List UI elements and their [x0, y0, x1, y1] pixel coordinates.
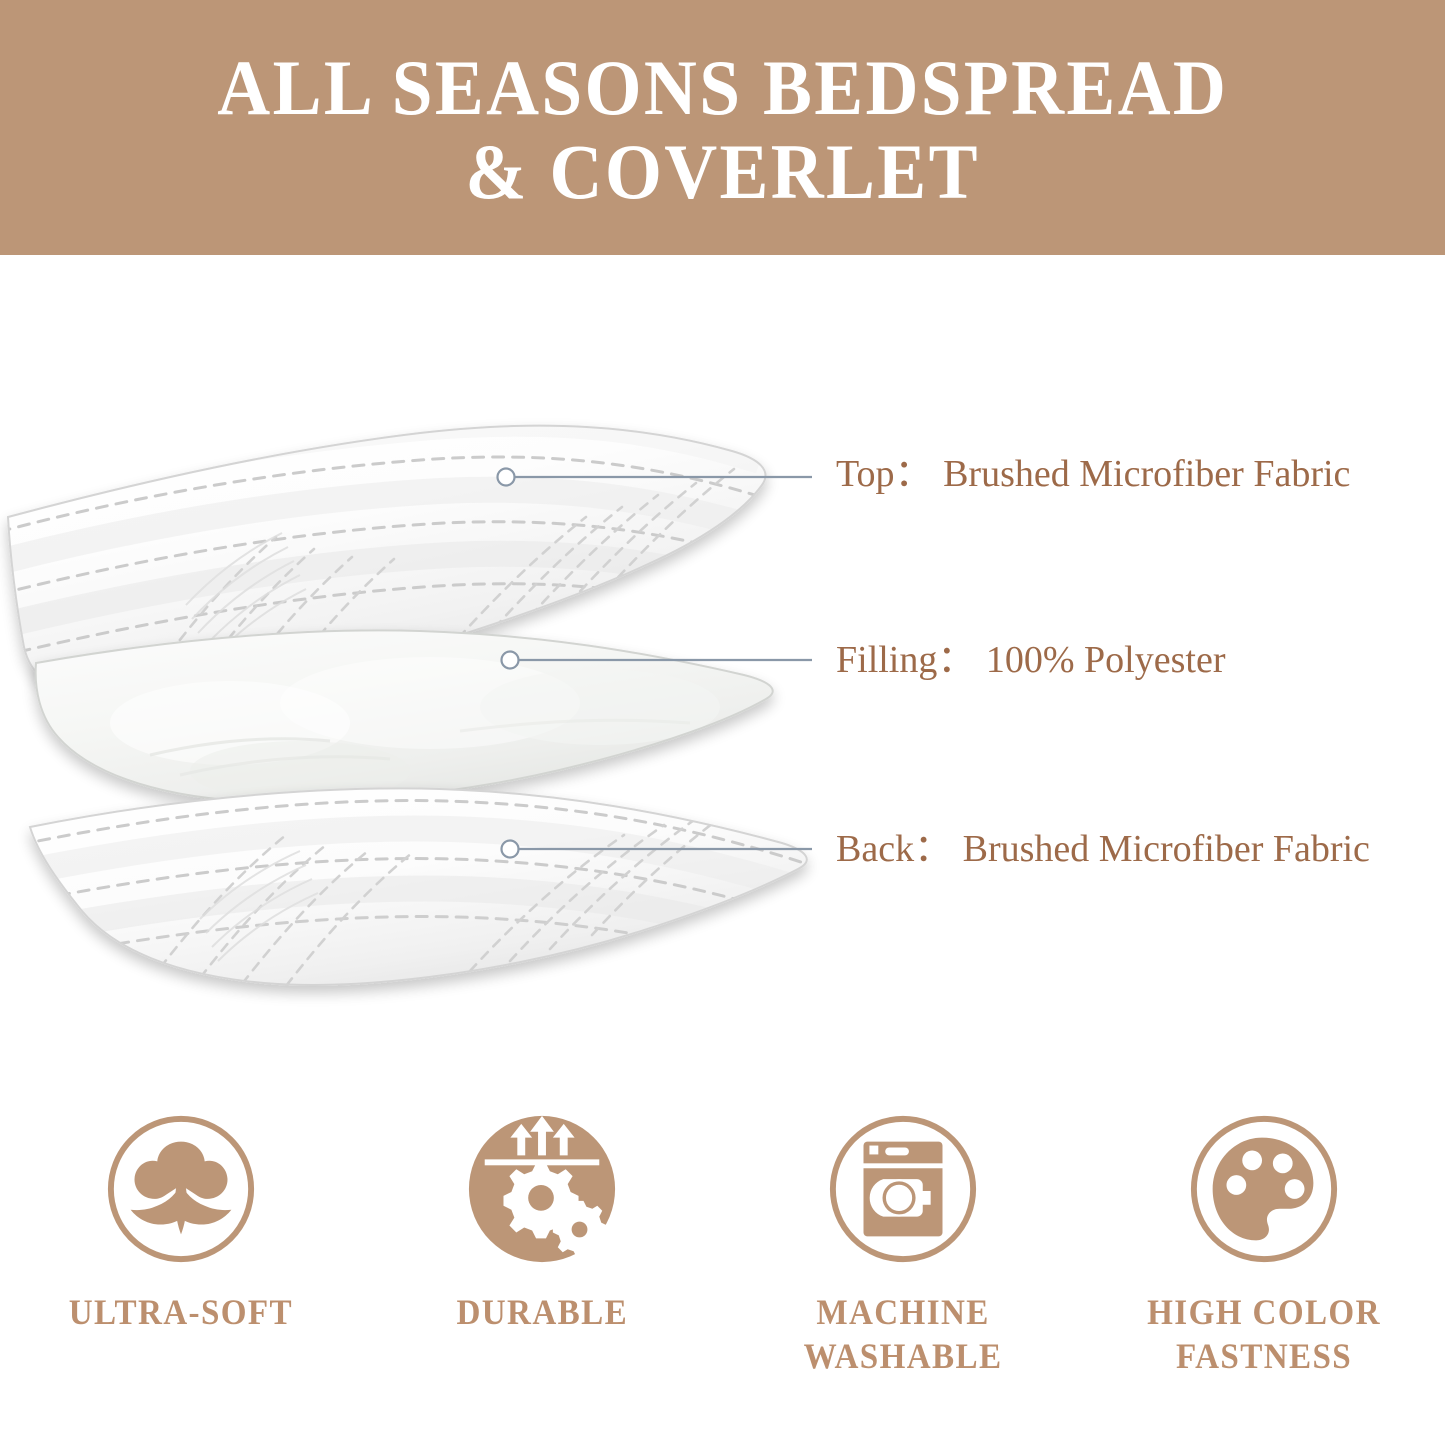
feature-label-line-1: MACHINE: [816, 1292, 989, 1332]
feature-high-color-fastness: HIGH COLOR FASTNESS: [1119, 1110, 1409, 1378]
leader-dot: [498, 469, 515, 486]
callout-label-top: Top： Brushed Microfiber Fabric: [836, 452, 1350, 496]
page-title-line-2: & COVERLET: [465, 130, 979, 214]
feature-list: ULTRA-SOFT: [0, 1110, 1445, 1445]
page-title-line-1: ALL SEASONS BEDSPREAD: [217, 46, 1228, 130]
fabric-layers-illustration: [0, 255, 1445, 1100]
callout-key-back: Back: [836, 828, 914, 870]
feature-label-line-2: WASHABLE: [804, 1336, 1003, 1376]
feature-label-line-1: HIGH COLOR: [1148, 1292, 1382, 1332]
callout-label-back: Back： Brushed Microfiber Fabric: [836, 827, 1370, 871]
paint-palette-icon: [1185, 1110, 1343, 1268]
callout-value-top: Brushed Microfiber Fabric: [943, 453, 1350, 495]
callout-key-filling: Filling: [836, 639, 937, 681]
feature-durable: DURABLE: [397, 1110, 687, 1334]
leader-dot: [502, 652, 519, 669]
washing-machine-icon: [824, 1110, 982, 1268]
leader-dot: [502, 841, 519, 858]
callout-key-top: Top: [836, 453, 895, 495]
product-exploded-view: [0, 255, 1445, 1100]
feature-machine-washable: MACHINE WASHABLE: [758, 1110, 1048, 1378]
feature-label-high-color-fastness: HIGH COLOR FASTNESS: [1148, 1290, 1382, 1378]
feature-label-durable: DURABLE: [456, 1290, 628, 1334]
feature-ultra-soft: ULTRA-SOFT: [36, 1110, 326, 1334]
callout-colon-filling: ：: [937, 639, 976, 681]
feature-label-machine-washable: MACHINE WASHABLE: [804, 1290, 1003, 1378]
callout-colon-top: ：: [895, 453, 934, 495]
feature-label-line-2: FASTNESS: [1176, 1336, 1352, 1376]
gears-with-arrows-icon: [463, 1110, 621, 1268]
callout-colon-back: ：: [914, 828, 953, 870]
feature-label-ultra-soft: ULTRA-SOFT: [68, 1290, 292, 1334]
callout-label-filling: Filling： 100% Polyester: [836, 638, 1225, 682]
cotton-boll-icon: [102, 1110, 260, 1268]
callout-value-filling: 100% Polyester: [986, 639, 1226, 681]
header-banner: ALL SEASONS BEDSPREAD & COVERLET: [0, 0, 1445, 255]
callout-value-back: Brushed Microfiber Fabric: [963, 828, 1370, 870]
